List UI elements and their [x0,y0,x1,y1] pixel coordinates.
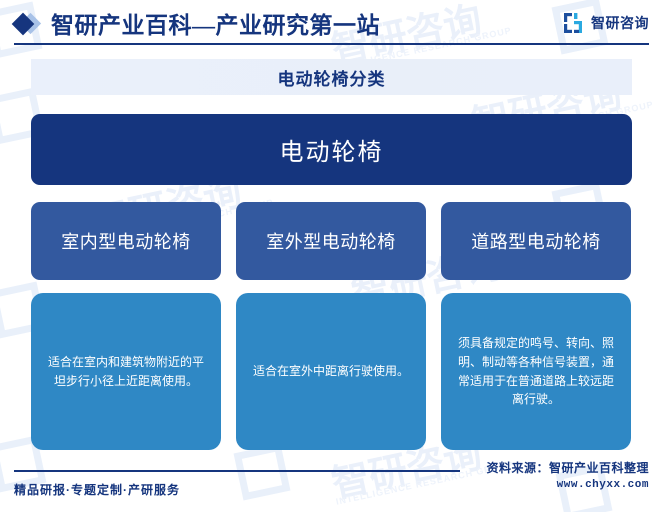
zhiyan-logo-icon [563,12,585,34]
chart-title-band: 电动轮椅分类 [31,59,632,95]
page-header: 智研产业百科—产业研究第一站 智研咨询 [0,0,663,47]
diamond-icon [14,14,46,34]
classification-diagram: 电动轮椅 室内型电动轮椅 室外型电动轮椅 道路型电动轮椅 适合在室内和建筑物附近… [31,114,632,450]
page-footer: 精品研报·专题定制·产研服务 资料来源：智研产业百科整理 www.chyxx.c… [0,457,663,512]
page-title: 智研产业百科—产业研究第一站 [51,6,380,40]
category-node-indoor[interactable]: 室内型电动轮椅 [31,202,221,280]
brand-name: 智研咨询 [591,13,649,33]
description-text: 须具备规定的鸣号、转向、照明、制动等各种信号装置，通常适用于在普通道路上较远距离… [455,334,617,408]
brand-logo[interactable]: 智研咨询 [563,12,649,34]
category-node-road[interactable]: 道路型电动轮椅 [441,202,631,280]
chart-title: 电动轮椅分类 [278,65,386,90]
description-text: 适合在室内和建筑物附近的平坦步行小径上近距离使用。 [45,353,207,390]
footer-url[interactable]: www.chyxx.com [557,479,649,491]
description-node-road[interactable]: 须具备规定的鸣号、转向、照明、制动等各种信号装置，通常适用于在普通道路上较远距离… [441,293,631,450]
footer-services: 精品研报·专题定制·产研服务 [14,481,180,498]
footer-divider [14,470,460,472]
footer-source: 资料来源：智研产业百科整理 [486,459,649,476]
category-node-outdoor[interactable]: 室外型电动轮椅 [236,202,426,280]
description-node-indoor[interactable]: 适合在室内和建筑物附近的平坦步行小径上近距离使用。 [31,293,221,450]
header-divider [14,43,649,45]
description-node-outdoor[interactable]: 适合在室外中距离行驶使用。 [236,293,426,450]
root-node[interactable]: 电动轮椅 [31,114,632,185]
category-row: 室内型电动轮椅 室外型电动轮椅 道路型电动轮椅 [31,202,632,280]
description-row: 适合在室内和建筑物附近的平坦步行小径上近距离使用。 适合在室外中距离行驶使用。 … [31,293,632,450]
description-text: 适合在室外中距离行驶使用。 [253,362,409,381]
